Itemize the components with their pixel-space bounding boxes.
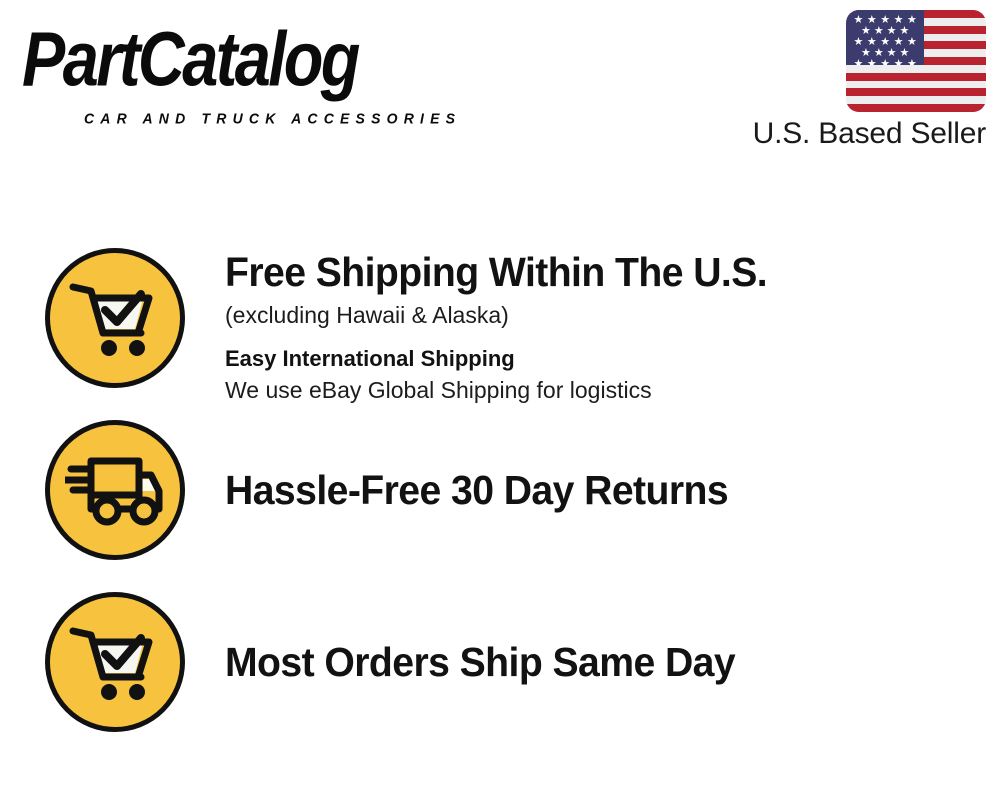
brand-logo[interactable]: PartCatalog CAR AND TRUCK ACCESSORIES bbox=[22, 22, 502, 117]
star-row: ★★★★★ bbox=[850, 59, 920, 65]
shopping-cart-check-icon bbox=[45, 592, 185, 732]
brand-tagline: CAR AND TRUCK ACCESSORIES bbox=[84, 110, 461, 127]
feature-text-block: Hassle-Free 30 Day Returns bbox=[185, 420, 1000, 512]
feature-subtext: We use eBay Global Shipping for logistic… bbox=[225, 376, 1000, 406]
feature-text-block: Free Shipping Within The U.S. (excluding… bbox=[185, 248, 1000, 406]
feature-title: Most Orders Ship Same Day bbox=[225, 640, 965, 684]
feature-row: Most Orders Ship Same Day bbox=[0, 592, 1000, 732]
feature-subheading: Easy International Shipping bbox=[225, 345, 1000, 374]
flag-stars: ★★★★★ ★★★★ ★★★★★ ★★★★ ★★★★★ bbox=[846, 10, 924, 65]
feature-row: Hassle-Free 30 Day Returns bbox=[0, 420, 1000, 560]
shopping-cart-check-icon bbox=[45, 248, 185, 388]
feature-title: Hassle-Free 30 Day Returns bbox=[225, 468, 965, 512]
brand-wordmark: PartCatalog bbox=[22, 22, 516, 99]
flag-canton: ★★★★★ ★★★★ ★★★★★ ★★★★ ★★★★★ bbox=[846, 10, 924, 65]
us-flag-icon: ★★★★★ ★★★★ ★★★★★ ★★★★ ★★★★★ bbox=[846, 10, 986, 112]
us-based-seller-label: U.S. Based Seller bbox=[714, 118, 986, 150]
feature-title: Free Shipping Within The U.S. bbox=[225, 250, 965, 294]
us-based-seller-badge: ★★★★★ ★★★★ ★★★★★ ★★★★ ★★★★★ bbox=[714, 10, 986, 150]
delivery-truck-icon bbox=[45, 420, 185, 560]
feature-note: (excluding Hawaii & Alaska) bbox=[225, 300, 1000, 331]
feature-row: Free Shipping Within The U.S. (excluding… bbox=[0, 248, 1000, 406]
seller-info-banner: PartCatalog CAR AND TRUCK ACCESSORIES ★★… bbox=[0, 0, 1000, 800]
feature-text-block: Most Orders Ship Same Day bbox=[185, 592, 1000, 684]
